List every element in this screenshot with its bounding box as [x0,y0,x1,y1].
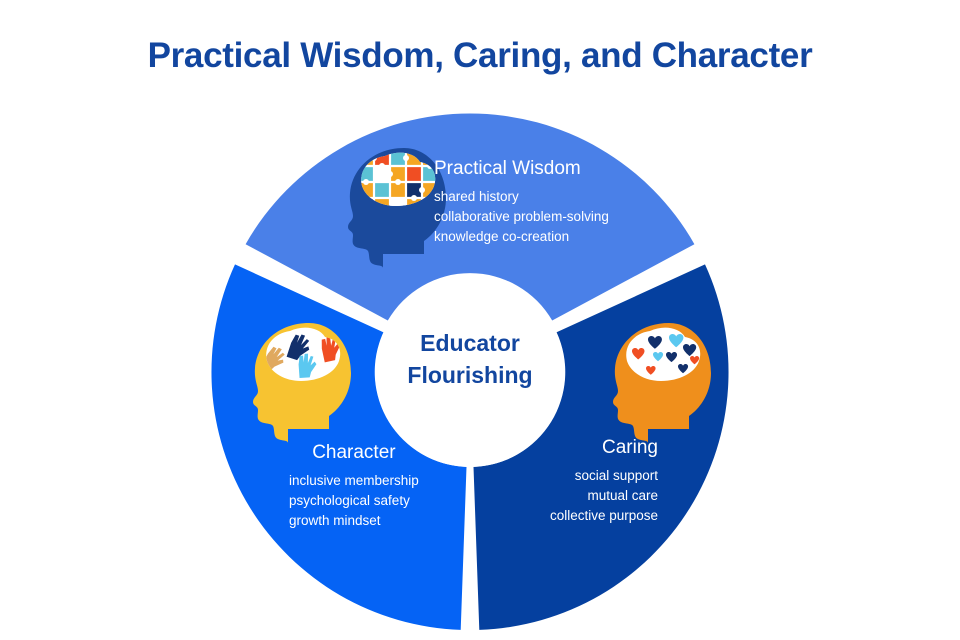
practical-wisdom-item-2: collaborative problem-solving [434,207,609,227]
character-item-1: inclusive membership [289,471,419,491]
character-item-3: growth mindset [289,511,419,531]
practical-wisdom-label-block: Practical Wisdom shared history collabor… [434,159,609,247]
center-label: Educator Flourishing [375,328,565,391]
caring-label-block: Caring social support mutual care collec… [550,438,658,526]
donut-chart [0,0,960,640]
caring-heading: Caring [550,438,658,457]
center-label-line-1: Educator [375,328,565,360]
caring-item-1: social support [550,466,658,486]
character-label-block: Character inclusive membership psycholog… [289,443,419,531]
character-item-2: psychological safety [289,491,419,511]
caring-item-2: mutual care [550,486,658,506]
character-heading: Character [289,443,419,462]
diagram-canvas: Practical Wisdom, Caring, and Character [0,0,960,640]
caring-item-3: collective purpose [550,506,658,526]
practical-wisdom-item-1: shared history [434,187,609,207]
practical-wisdom-heading: Practical Wisdom [434,159,609,178]
center-label-line-2: Flourishing [375,360,565,392]
practical-wisdom-item-3: knowledge co-creation [434,227,609,247]
